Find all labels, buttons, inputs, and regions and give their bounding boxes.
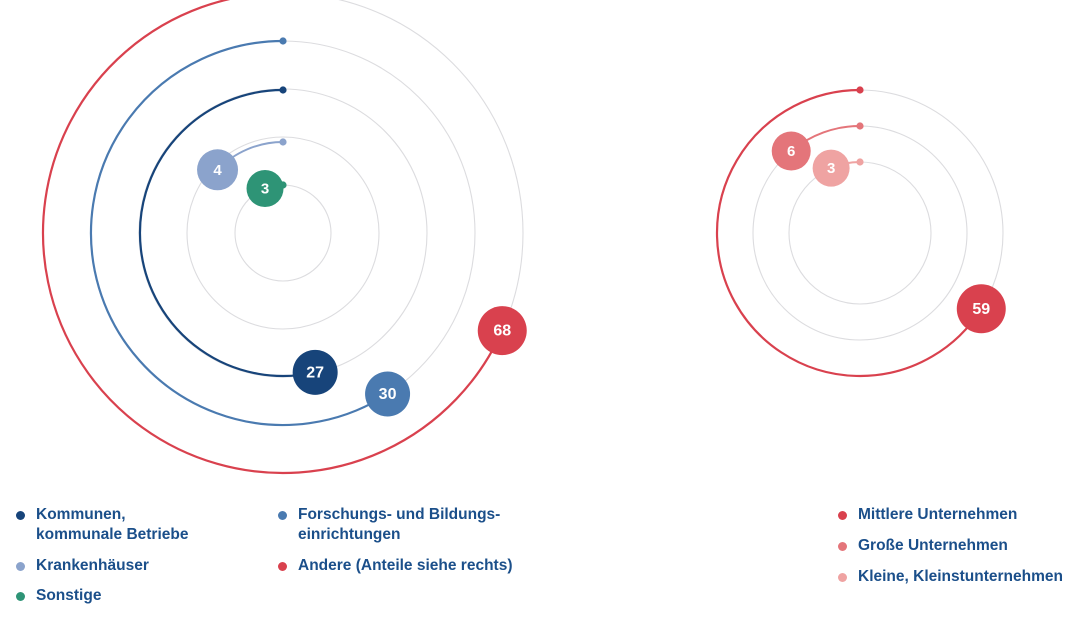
series-arc-3[interactable] <box>717 90 981 376</box>
value-bubble-3[interactable]: 27 <box>293 350 338 395</box>
chart-stage: 342730683659 Kommunen, kommunale Betrieb… <box>0 0 1092 622</box>
legend-item[interactable]: Große Unternehmen <box>838 536 1092 556</box>
series-arc-layer <box>43 0 981 473</box>
legend-item-label: Kleine, Kleinstunternehmen <box>858 567 1063 587</box>
series-start-dot-2 <box>856 122 863 129</box>
legend-right: Mittlere UnternehmenGroße UnternehmenKle… <box>838 505 1092 595</box>
bubble-value-label: 3 <box>827 160 835 177</box>
value-bubble-1[interactable]: 3 <box>247 170 284 207</box>
grid-ring-4 <box>91 41 475 425</box>
legend-item-label: Kommunen, kommunale Betriebe <box>36 505 188 545</box>
gridline-layer <box>43 0 1003 473</box>
legend-item-label: Sonstige <box>36 586 101 606</box>
series-arc-4[interactable] <box>91 41 388 425</box>
bubble-value-label: 4 <box>213 162 222 179</box>
series-start-dot-3 <box>279 86 286 93</box>
legend-item[interactable]: Kommunen, kommunale Betriebe <box>16 505 276 545</box>
legend-column-1: Mittlere UnternehmenGroße UnternehmenKle… <box>838 505 1092 597</box>
legend-item[interactable]: Sonstige <box>16 586 276 606</box>
series-arc-5[interactable] <box>43 0 502 473</box>
series-arc-3[interactable] <box>140 90 315 376</box>
bubble-value-label: 30 <box>379 386 397 403</box>
legend-item[interactable]: Kleine, Kleinstunternehmen <box>838 567 1092 587</box>
grid-ring-5 <box>43 0 523 473</box>
legend-item-label: Große Unternehmen <box>858 536 1008 556</box>
legend-color-dot-icon <box>838 573 847 582</box>
bubble-value-label: 6 <box>787 143 795 160</box>
legend-color-dot-icon <box>838 511 847 520</box>
value-bubble-5[interactable]: 68 <box>478 306 527 355</box>
legend-item-label: Andere (Anteile siehe rechts) <box>298 556 512 576</box>
value-bubble-4[interactable]: 30 <box>365 372 410 417</box>
value-bubble-2[interactable]: 6 <box>772 132 811 171</box>
legend-column-1: Kommunen, kommunale BetriebeKrankenhäuse… <box>16 505 276 617</box>
bubble-value-label: 68 <box>493 323 511 340</box>
series-start-dot-1 <box>856 158 863 165</box>
bubble-value-label: 59 <box>972 301 990 318</box>
legend-color-dot-icon <box>16 592 25 601</box>
value-bubble-1[interactable]: 3 <box>813 150 850 187</box>
legend-color-dot-icon <box>16 562 25 571</box>
legend-item[interactable]: Forschungs- und Bildungs- einrichtungen <box>278 505 568 545</box>
bubble-value-label: 3 <box>261 180 269 197</box>
legend-color-dot-icon <box>16 511 25 520</box>
series-start-dot-2 <box>279 138 286 145</box>
series-start-dot-4 <box>279 37 286 44</box>
series-start-dot-3 <box>856 86 863 93</box>
grid-ring-3 <box>717 90 1003 376</box>
grid-ring-1 <box>789 162 931 304</box>
legend-item-label: Krankenhäuser <box>36 556 149 576</box>
legend-column-2: Forschungs- und Bildungs- einrichtungenA… <box>278 505 568 586</box>
legend-color-dot-icon <box>278 562 287 571</box>
legend-item[interactable]: Mittlere Unternehmen <box>838 505 1092 525</box>
legend-item-label: Forschungs- und Bildungs- einrichtungen <box>298 505 500 545</box>
legend-color-dot-icon <box>838 542 847 551</box>
value-bubble-2[interactable]: 4 <box>197 149 238 190</box>
legend-item-label: Mittlere Unternehmen <box>858 505 1017 525</box>
legend-item[interactable]: Andere (Anteile siehe rechts) <box>278 556 568 576</box>
legend-color-dot-icon <box>278 511 287 520</box>
bubble-value-label: 27 <box>306 364 324 381</box>
legend-left: Kommunen, kommunale BetriebeKrankenhäuse… <box>16 505 576 617</box>
legend-item[interactable]: Krankenhäuser <box>16 556 276 576</box>
value-bubble-3[interactable]: 59 <box>957 284 1006 333</box>
grid-ring-1 <box>235 185 331 281</box>
